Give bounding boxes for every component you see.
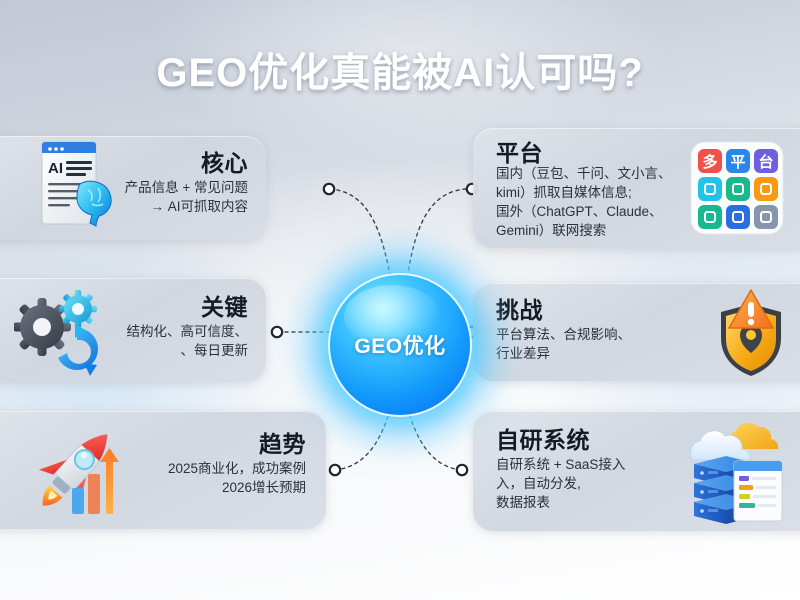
app-tile-label: 台 xyxy=(758,153,773,171)
node-body-platform: 国内（豆包、千问、文小言、 kimi）抓取自媒体信息; 国外（ChatGPT、C… xyxy=(496,164,704,241)
app-tile xyxy=(726,205,750,229)
center-node[interactable]: GEO优化 xyxy=(330,275,470,415)
node-heading-trend: 趋势 xyxy=(259,425,306,459)
connector-dot-system xyxy=(457,465,467,475)
gears-refresh-icon xyxy=(14,283,106,377)
connector-dot-core xyxy=(324,184,334,194)
node-heading-core: 核心 xyxy=(201,144,248,178)
server-cloud-report-icon xyxy=(672,415,788,527)
app-tile xyxy=(754,177,778,201)
node-heading-system: 自研系统 xyxy=(496,421,590,455)
node-heading-platform: 平台 xyxy=(496,134,543,168)
app-tile xyxy=(754,205,778,229)
app-grid-icon: 多平台 xyxy=(690,141,784,235)
app-tile xyxy=(698,177,722,201)
connector-dot-trend xyxy=(330,465,340,475)
app-tile-label: 多 xyxy=(702,153,717,171)
node-heading-key: 关键 xyxy=(201,288,248,322)
shield-warning-icon xyxy=(712,288,790,380)
ai-badge-text: AI xyxy=(48,160,63,177)
app-tile-label: 平 xyxy=(730,154,745,171)
ai-document-brain-icon: AI xyxy=(28,136,120,234)
connector-dot-key xyxy=(272,327,282,337)
center-node-label: GEO优化 xyxy=(330,275,470,415)
app-tile xyxy=(698,205,722,229)
rocket-growth-chart-icon xyxy=(20,418,130,522)
app-tile xyxy=(726,177,750,201)
infographic-canvas: GEO优化真能被AI认可吗? 核心 产品 xyxy=(0,0,800,600)
node-body-challenge: 平台算法、合规影响、 行业差异 xyxy=(496,325,706,363)
